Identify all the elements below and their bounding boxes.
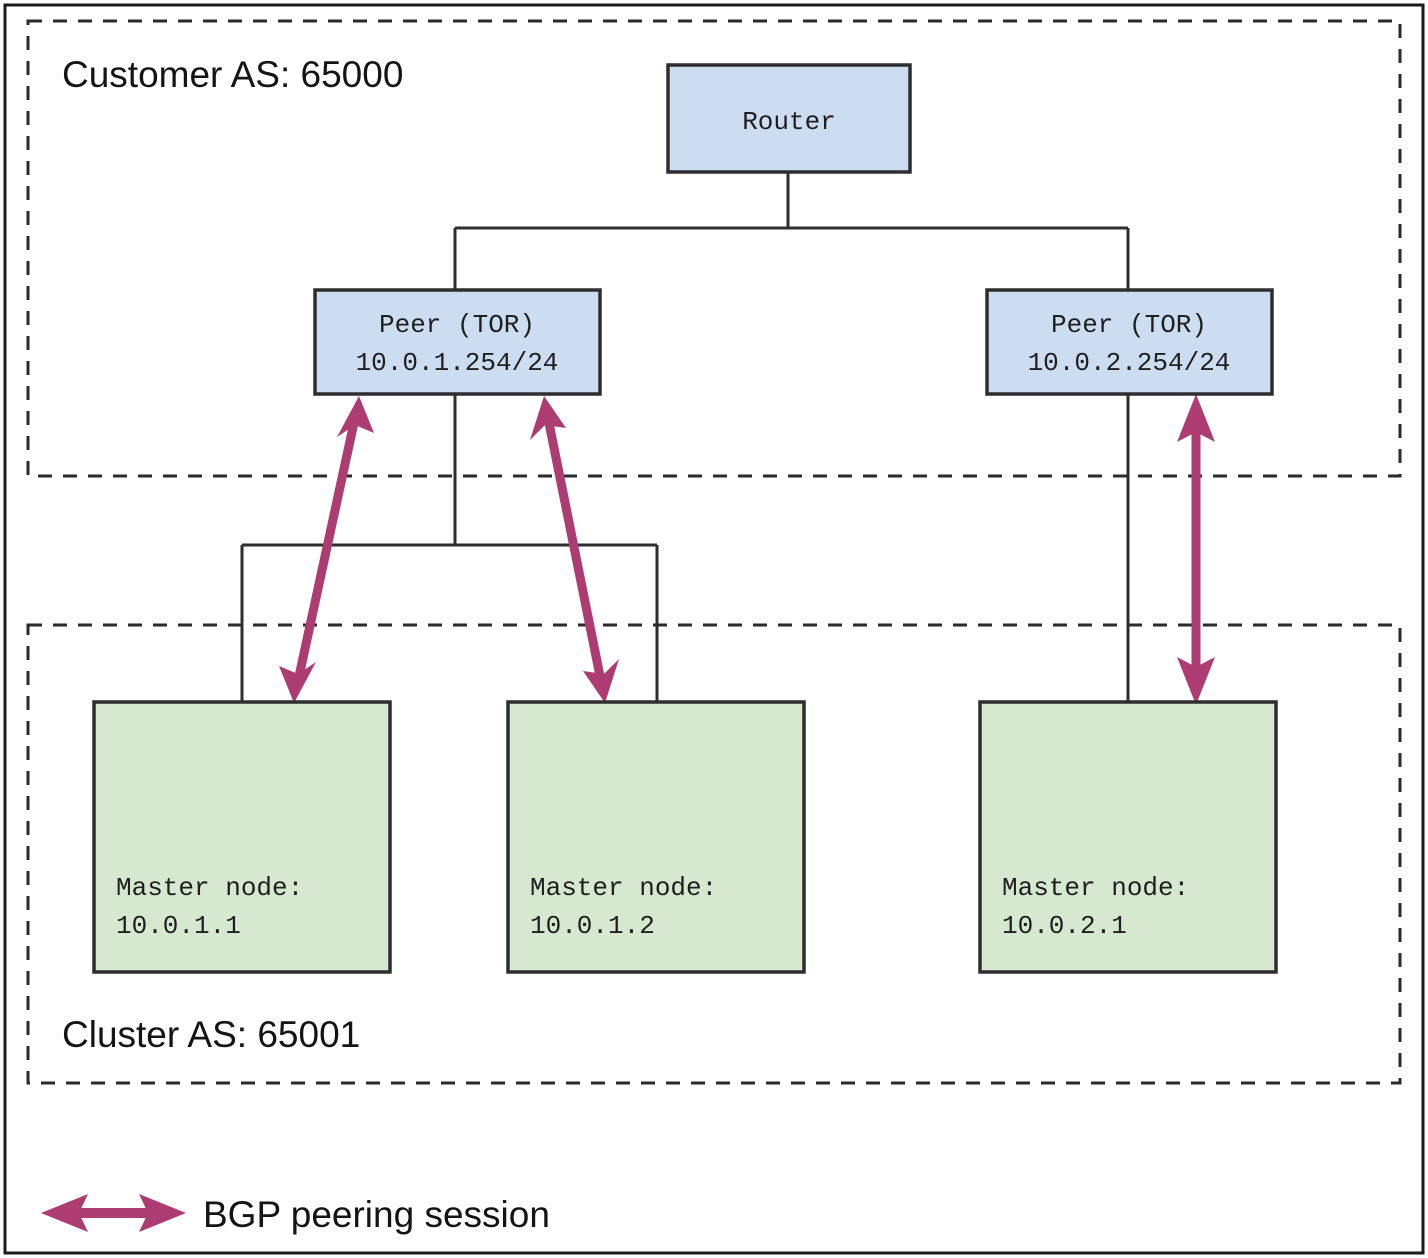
node-peer-right-title: Peer (TOR) (1051, 310, 1207, 340)
legend: BGP peering session (41, 1194, 550, 1235)
node-master-3[interactable]: Master node: 10.0.2.1 (980, 702, 1276, 972)
bgp-arrow-peer-left-master-1 (279, 396, 374, 703)
node-master-1-title: Master node: (116, 873, 303, 903)
node-master-1-address: 10.0.1.1 (116, 911, 241, 941)
legend-label: BGP peering session (203, 1194, 550, 1235)
bgp-arrow-peer-left-master-2 (530, 396, 619, 703)
node-master-3-title: Master node: (1002, 873, 1189, 903)
node-master-2[interactable]: Master node: 10.0.1.2 (508, 702, 804, 972)
outer-frame (5, 5, 1423, 1253)
bgp-arrow-peer-right-master-3 (1177, 394, 1215, 705)
double-headed-arrow-icon (41, 1194, 186, 1232)
node-router-label: Router (742, 107, 836, 137)
zone-cluster-as-label: Cluster AS: 65001 (62, 1014, 360, 1055)
node-master-1[interactable]: Master node: 10.0.1.1 (94, 702, 390, 972)
node-peer-right-address: 10.0.2.254/24 (1028, 348, 1231, 378)
node-master-2-title: Master node: (530, 873, 717, 903)
zone-customer-as-label: Customer AS: 65000 (62, 54, 403, 95)
network-topology-diagram: Customer AS: 65000 Cluster AS: 65001 (0, 0, 1428, 1258)
node-master-3-address: 10.0.2.1 (1002, 911, 1127, 941)
node-peer-left-address: 10.0.1.254/24 (356, 348, 559, 378)
node-router[interactable]: Router (668, 65, 910, 172)
node-peer-left-title: Peer (TOR) (379, 310, 535, 340)
node-peer-right[interactable]: Peer (TOR) 10.0.2.254/24 (987, 290, 1272, 394)
node-master-2-address: 10.0.1.2 (530, 911, 655, 941)
diagram-canvas: Customer AS: 65000 Cluster AS: 65001 (0, 0, 1428, 1258)
node-peer-left[interactable]: Peer (TOR) 10.0.1.254/24 (315, 290, 600, 394)
